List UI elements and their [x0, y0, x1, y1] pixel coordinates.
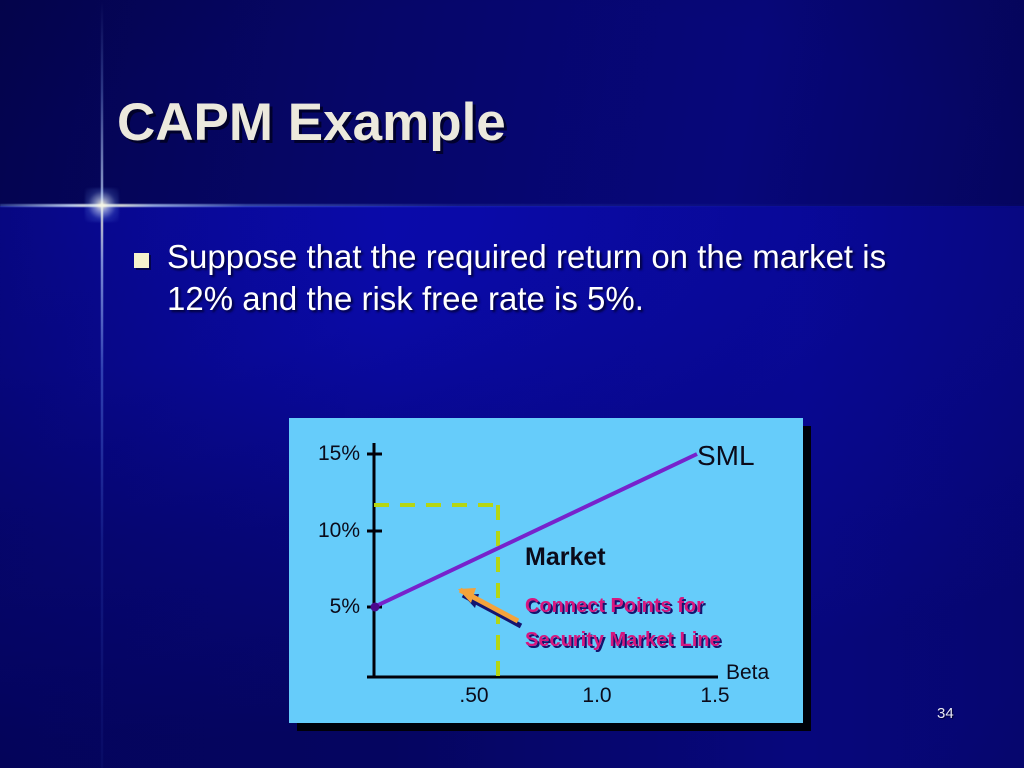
y-tick-label-10: 10% [305, 519, 360, 543]
connect-note-line-2: Security Market Line [525, 628, 721, 654]
risk-free-point-marker [371, 603, 380, 612]
bullet-text: Suppose that the required return on the … [167, 236, 897, 319]
y-tick-label-5: 5% [305, 595, 360, 619]
x-axis-title: Beta [726, 661, 769, 685]
market-label: Market [525, 543, 606, 572]
list-item: Suppose that the required return on the … [134, 236, 934, 319]
x-tick-label-0-50: .50 [444, 684, 504, 708]
page-number: 34 [937, 705, 954, 722]
slide: CAPM Example Suppose that the required r… [0, 0, 1024, 768]
sml-label: SML [697, 440, 755, 472]
sml-line [374, 454, 697, 607]
x-tick-label-1-5: 1.5 [685, 684, 745, 708]
bullet-list: Suppose that the required return on the … [134, 236, 934, 319]
callout-arrow-icon [458, 588, 521, 626]
y-tick-label-15: 15% [305, 442, 360, 466]
square-bullet-icon [134, 253, 149, 268]
x-tick-label-1-0: 1.0 [567, 684, 627, 708]
page-title: CAPM Example [117, 92, 506, 153]
capm-chart: 15% 10% 5% .50 1.0 1.5 Beta SML Market C… [289, 418, 803, 723]
connect-note-line-1: Connect Points for [525, 594, 704, 620]
